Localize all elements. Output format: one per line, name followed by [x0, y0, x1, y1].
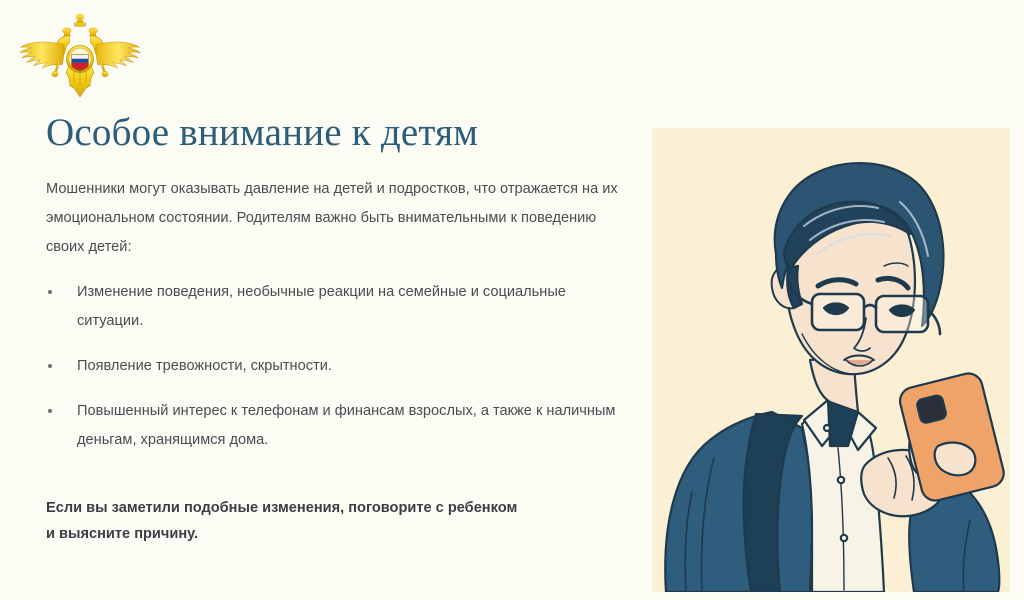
- intro-paragraph: Мошенники могут оказывать давление на де…: [46, 175, 618, 262]
- bullet-dot-icon: [48, 364, 52, 368]
- bullet-dot-icon: [48, 409, 52, 413]
- teen-with-phone-illustration: [652, 128, 1010, 592]
- list-item: Появление тревожности, скрытности.: [46, 352, 622, 381]
- list-item: Изменение поведения, необычные реакции н…: [46, 278, 622, 336]
- list-item-label: Изменение поведения, необычные реакции н…: [77, 284, 566, 329]
- slide-root: Особое внимание к детям Мошенники могут …: [0, 0, 1024, 600]
- list-item: Повышенный интерес к телефонам и финанса…: [46, 397, 622, 455]
- conclusion-text: Если вы заметили подобные изменения, пог…: [46, 495, 566, 547]
- mvd-emblem-icon: [14, 9, 146, 101]
- content-column: Особое внимание к детям Мошенники могут …: [46, 110, 626, 547]
- warning-signs-list: Изменение поведения, необычные реакции н…: [46, 278, 626, 455]
- list-item-label: Повышенный интерес к телефонам и финанса…: [77, 403, 615, 448]
- bullet-dot-icon: [48, 290, 52, 294]
- conclusion-line-1: Если вы заметили подобные изменения, пог…: [46, 495, 566, 521]
- list-item-label: Появление тревожности, скрытности.: [77, 358, 332, 374]
- russian-flag-shield: [72, 55, 89, 72]
- conclusion-line-2: и выясните причину.: [46, 521, 566, 547]
- page-title: Особое внимание к детям: [46, 110, 626, 156]
